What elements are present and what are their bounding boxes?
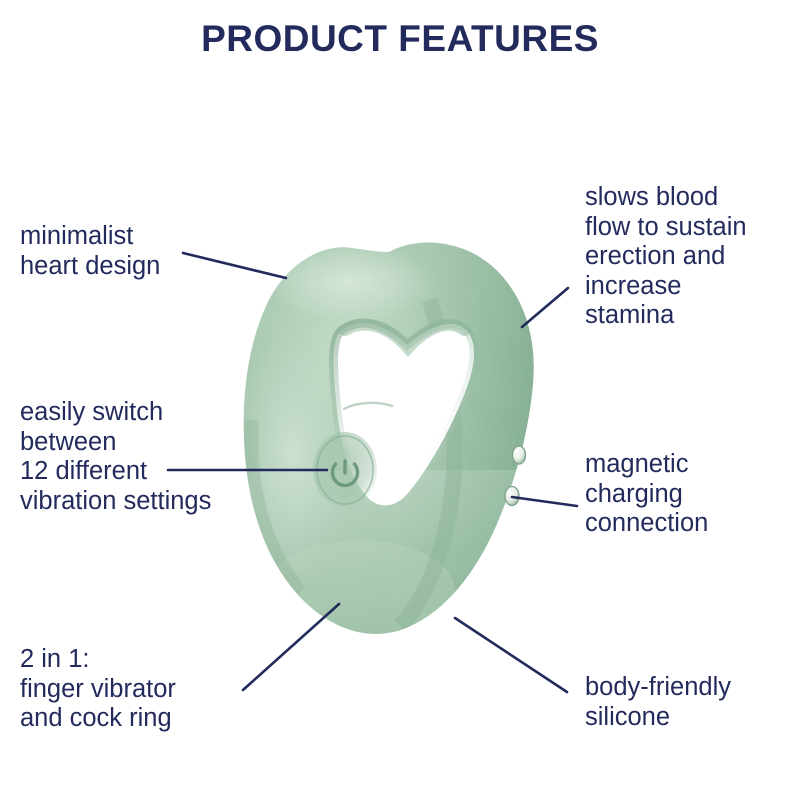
product-body-group [230, 230, 560, 650]
callout-magnetic-charging-connection: magnetic charging connection [585, 450, 708, 539]
callout-easily-switch-settings: easily switch between 12 different vibra… [20, 398, 211, 516]
callout-slows-blood-flow: slows blood flow to sustain erection and… [585, 183, 747, 331]
callout-body-friendly-silicone: body-friendly silicone [585, 673, 731, 732]
product-features-diagram: PRODUCT FEATURES [0, 0, 800, 800]
leader-line-slows-blood [522, 288, 568, 327]
leader-line-body-friendly [455, 618, 567, 692]
callout-two-in-one: 2 in 1: finger vibrator and cock ring [20, 645, 176, 734]
charging-contact-upper-icon [513, 446, 526, 464]
body-top-highlight [264, 242, 436, 322]
leader-line-heart-design [183, 253, 286, 278]
callout-minimalist-heart-design: minimalist heart design [20, 222, 160, 281]
leader-line-magnetic [512, 497, 577, 506]
leader-line-two-in-one [243, 604, 339, 690]
